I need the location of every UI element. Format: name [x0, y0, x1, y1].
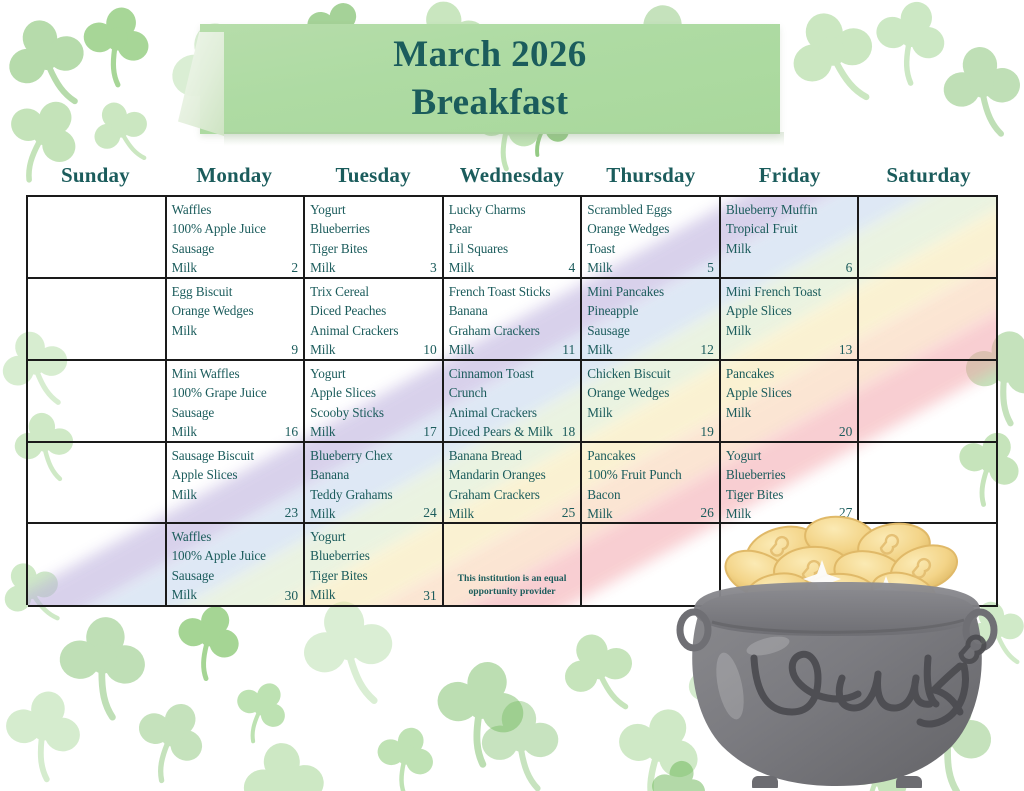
menu-items: YogurtBlueberriesTiger BitesMilk	[726, 446, 853, 524]
menu-item: Waffles	[172, 527, 299, 546]
day-cell-23: Sausage BiscuitApple SlicesMilk23	[167, 443, 306, 524]
menu-item: Yogurt	[310, 527, 437, 546]
day-number: 11	[562, 341, 575, 358]
menu-items: Scrambled EggsOrange WedgesToastMilk	[587, 200, 714, 278]
menu-items: YogurtBlueberriesTiger BitesMilk	[310, 200, 437, 278]
day-number: 23	[285, 504, 299, 521]
menu-item: Milk	[172, 258, 299, 277]
empty-cell-1-0	[28, 279, 167, 361]
menu-items: Trix CerealDiced PeachesAnimal CrackersM…	[310, 282, 437, 360]
menu-item: Blueberries	[726, 465, 853, 484]
menu-item: Milk	[449, 258, 576, 277]
day-number: 16	[285, 423, 299, 440]
calendar-page: March 2026 Breakfast SundayMondayTuesday…	[0, 0, 1024, 791]
day-number: 6	[846, 259, 853, 276]
shamrock-icon	[218, 670, 301, 755]
menu-item: Tiger Bites	[726, 485, 853, 504]
shamrock-icon	[161, 594, 254, 692]
day-number: 13	[839, 341, 853, 358]
menu-items: Blueberry ChexBananaTeddy GrahamsMilk	[310, 446, 437, 524]
menu-items: Mini French ToastApple SlicesMilk	[726, 282, 853, 340]
menu-item: Milk	[587, 504, 714, 523]
shamrock-icon	[935, 42, 1024, 147]
day-cell-25: Banana BreadMandarin OrangesGraham Crack…	[444, 443, 583, 524]
weekday-header-sunday: Sunday	[26, 160, 165, 190]
empty-cell-0-0	[28, 197, 167, 279]
menu-item: Diced Peaches	[310, 301, 437, 320]
day-cell-11: French Toast SticksBananaGraham Crackers…	[444, 279, 583, 361]
menu-item: Graham Crackers	[449, 321, 576, 340]
shamrock-icon	[0, 7, 105, 125]
day-cell-5: Scrambled EggsOrange WedgesToastMilk5	[582, 197, 721, 279]
day-number: 20	[839, 423, 853, 440]
menu-item: Sausage	[587, 321, 714, 340]
menu-item: Apple Slices	[172, 465, 299, 484]
shamrock-icon	[549, 621, 652, 730]
day-number: 24	[423, 504, 437, 521]
day-number: 18	[562, 423, 576, 440]
day-cell-31: YogurtBlueberriesTiger BitesMilk31	[305, 524, 444, 607]
menu-item: Milk	[172, 422, 299, 441]
menu-item: 100% Apple Juice	[172, 219, 299, 238]
day-cell-4: Lucky CharmsPearLil SquaresMilk4	[444, 197, 583, 279]
shamrock-icon	[475, 697, 568, 791]
shamrock-icon	[114, 687, 221, 791]
day-cell-16: Mini Waffles100% Grape JuiceSausageMilk1…	[167, 361, 306, 443]
menu-item: Milk	[726, 239, 853, 258]
cauldron-body	[692, 590, 982, 786]
day-number: 30	[285, 587, 299, 604]
menu-item: Yogurt	[310, 364, 437, 383]
day-number: 2	[291, 259, 298, 276]
menu-item: Banana	[449, 301, 576, 320]
shamrock-icon	[826, 733, 923, 791]
menu-item: Milk	[310, 258, 437, 277]
menu-item: Milk	[310, 504, 437, 523]
empty-cell-1-6	[859, 279, 998, 361]
menu-item: Yogurt	[726, 446, 853, 465]
weekday-header-saturday: Saturday	[859, 160, 998, 190]
weekday-header-monday: Monday	[165, 160, 304, 190]
menu-item: Tiger Bites	[310, 239, 437, 258]
day-number: 31	[423, 587, 437, 604]
day-number: 17	[423, 423, 437, 440]
menu-items: Mini Waffles100% Grape JuiceSausageMilk	[172, 364, 299, 442]
menu-item: Crunch	[449, 383, 576, 402]
day-cell-3: YogurtBlueberriesTiger BitesMilk3	[305, 197, 444, 279]
day-cell-24: Blueberry ChexBananaTeddy GrahamsMilk24	[305, 443, 444, 524]
menu-item: Orange Wedges	[172, 301, 299, 320]
menu-item: Sausage	[172, 403, 299, 422]
menu-items: Chicken BiscuitOrange WedgesMilk	[587, 364, 714, 422]
menu-item: Yogurt	[310, 200, 437, 219]
title-banner: March 2026 Breakfast	[200, 24, 780, 134]
menu-item: Sausage	[172, 566, 299, 585]
cauldron-handles	[680, 612, 994, 648]
empty-cell-2-6	[859, 361, 998, 443]
menu-item: Apple Slices	[726, 301, 853, 320]
menu-item: Graham Crackers	[449, 485, 576, 504]
menu-item: Tiger Bites	[310, 566, 437, 585]
shamrock-icon	[235, 738, 335, 791]
menu-item: Milk	[587, 403, 714, 422]
weekday-header-tuesday: Tuesday	[304, 160, 443, 190]
menu-items: Waffles100% Apple JuiceSausageMilk	[172, 527, 299, 605]
menu-item: Apple Slices	[310, 383, 437, 402]
menu-items: Sausage BiscuitApple SlicesMilk	[172, 446, 299, 504]
menu-item: Blueberries	[310, 546, 437, 565]
menu-item: Chicken Biscuit	[587, 364, 714, 383]
menu-items: Waffles100% Apple JuiceSausageMilk	[172, 200, 299, 278]
menu-item: French Toast Sticks	[449, 282, 576, 301]
menu-items: PancakesApple SlicesMilk	[726, 364, 853, 422]
menu-item: Milk	[726, 504, 853, 523]
shamrock-icon	[594, 693, 718, 791]
shamrock-icon	[893, 684, 1003, 791]
menu-items: Pancakes100% Fruit PunchBaconMilk	[587, 446, 714, 524]
day-number: 19	[700, 423, 714, 440]
menu-item: Waffles	[172, 200, 299, 219]
menu-item: Scrambled Eggs	[587, 200, 714, 219]
day-cell-27: YogurtBlueberriesTiger BitesMilk27	[721, 443, 860, 524]
menu-item: Toast	[587, 239, 714, 258]
menu-item: Pineapple	[587, 301, 714, 320]
day-cell-10: Trix CerealDiced PeachesAnimal CrackersM…	[305, 279, 444, 361]
empty-cell-4-6	[859, 524, 998, 607]
menu-items: Banana BreadMandarin OrangesGraham Crack…	[449, 446, 576, 524]
shamrock-icon	[643, 755, 714, 791]
empty-cell-4-4	[582, 524, 721, 607]
menu-item: 100% Grape Juice	[172, 383, 299, 402]
menu-item: Milk	[449, 340, 576, 359]
day-number: 26	[700, 504, 714, 521]
menu-item: Cinnamon Toast	[449, 364, 576, 383]
menu-item: Blueberry Chex	[310, 446, 437, 465]
pot-lucky-script	[754, 654, 965, 724]
empty-cell-4-5	[721, 524, 860, 607]
shamrock-icon	[774, 0, 898, 127]
shamrock-icon	[0, 682, 93, 791]
menu-item: Milk	[726, 321, 853, 340]
menu-item: Egg Biscuit	[172, 282, 299, 301]
equal-opportunity-disclaimer: This institution is an equal opportunity…	[448, 572, 577, 598]
day-cell-13: Mini French ToastApple SlicesMilk13	[721, 279, 860, 361]
menu-item: Milk	[587, 340, 714, 359]
menu-item: Sausage	[172, 239, 299, 258]
day-cell-30: Waffles100% Apple JuiceSausageMilk30	[167, 524, 306, 607]
meal-title: Breakfast	[411, 80, 568, 126]
day-number: 27	[839, 504, 853, 521]
menu-item: Trix Cereal	[310, 282, 437, 301]
shamrock-icon	[362, 718, 445, 791]
clover-icon	[961, 637, 984, 661]
day-cell-6: Blueberry MuffinTropical FruitMilk6	[721, 197, 860, 279]
day-cell-18: Cinnamon ToastCrunchAnimal CrackersDiced…	[444, 361, 583, 443]
shamrock-icon	[418, 650, 540, 780]
menu-item: Pancakes	[587, 446, 714, 465]
shamrock-icon	[291, 592, 409, 720]
shamrock-icon	[69, 0, 161, 97]
menu-item: Sausage Biscuit	[172, 446, 299, 465]
menu-item: Milk	[449, 504, 576, 523]
day-cell-17: YogurtApple SlicesScooby SticksMilk17	[305, 361, 444, 443]
month-year-title: March 2026	[393, 32, 586, 78]
menu-item: Milk	[310, 585, 437, 604]
menu-item: Mandarin Oranges	[449, 465, 576, 484]
menu-item: Teddy Grahams	[310, 485, 437, 504]
day-cell-26: Pancakes100% Fruit PunchBaconMilk26	[582, 443, 721, 524]
shamrock-icon	[746, 671, 828, 757]
banner-shadow	[224, 132, 784, 146]
menu-item: Mini French Toast	[726, 282, 853, 301]
menu-items: Blueberry MuffinTropical FruitMilk	[726, 200, 853, 258]
menu-item: Banana Bread	[449, 446, 576, 465]
menu-item: Milk	[172, 485, 299, 504]
menu-item: Tropical Fruit	[726, 219, 853, 238]
menu-item: Animal Crackers	[449, 403, 576, 422]
menu-item: Animal Crackers	[310, 321, 437, 340]
menu-item: Orange Wedges	[587, 219, 714, 238]
day-number: 12	[700, 341, 714, 358]
day-number: 25	[562, 504, 576, 521]
menu-item: Scooby Sticks	[310, 403, 437, 422]
menu-items: YogurtBlueberriesTiger BitesMilk	[310, 527, 437, 605]
day-cell-20: PancakesApple SlicesMilk20	[721, 361, 860, 443]
shamrock-icon	[677, 638, 769, 736]
menu-item: 100% Apple Juice	[172, 546, 299, 565]
menu-item: Mini Waffles	[172, 364, 299, 383]
day-number: 10	[423, 341, 437, 358]
menu-item: Orange Wedges	[587, 383, 714, 402]
weekday-header-friday: Friday	[720, 160, 859, 190]
menu-items: YogurtApple SlicesScooby SticksMilk	[310, 364, 437, 442]
calendar-grid: Waffles100% Apple JuiceSausageMilk2Yogur…	[26, 195, 998, 605]
menu-item: Apple Slices	[726, 383, 853, 402]
day-number: 9	[291, 341, 298, 358]
menu-item: Bacon	[587, 485, 714, 504]
menu-item: Milk	[310, 422, 437, 441]
day-cell-12: Mini PancakesPineappleSausageMilk12	[582, 279, 721, 361]
menu-item: 100% Fruit Punch	[587, 465, 714, 484]
menu-item: Milk	[587, 258, 714, 277]
menu-item: Mini Pancakes	[587, 282, 714, 301]
weekday-header-thursday: Thursday	[581, 160, 720, 190]
menu-item: Pear	[449, 219, 576, 238]
day-number: 3	[430, 259, 437, 276]
menu-item: Blueberry Muffin	[726, 200, 853, 219]
empty-cell-3-6	[859, 443, 998, 524]
day-number: 5	[707, 259, 714, 276]
day-cell-9: Egg BiscuitOrange WedgesMilk9	[167, 279, 306, 361]
menu-item: Milk	[172, 585, 299, 604]
menu-item: Lil Squares	[449, 239, 576, 258]
menu-items: French Toast SticksBananaGraham Crackers…	[449, 282, 576, 360]
menu-item: Banana	[310, 465, 437, 484]
menu-item: Milk	[726, 403, 853, 422]
day-number: 4	[569, 259, 576, 276]
menu-item: Blueberries	[310, 219, 437, 238]
menu-item: Milk	[172, 321, 299, 340]
empty-cell-0-6	[859, 197, 998, 279]
weekday-header-wednesday: Wednesday	[443, 160, 582, 190]
menu-item: Lucky Charms	[449, 200, 576, 219]
menu-item: Diced Pears & Milk	[449, 422, 576, 441]
empty-cell-4-0	[28, 524, 167, 607]
weekday-header-row: SundayMondayTuesdayWednesdayThursdayFrid…	[26, 160, 998, 190]
day-cell-19: Chicken BiscuitOrange WedgesMilk19	[582, 361, 721, 443]
day-cell-2: Waffles100% Apple JuiceSausageMilk2	[167, 197, 306, 279]
empty-cell-3-0	[28, 443, 167, 524]
menu-item: Pancakes	[726, 364, 853, 383]
menu-items: Cinnamon ToastCrunchAnimal CrackersDiced…	[449, 364, 576, 442]
menu-item: Milk	[310, 340, 437, 359]
shamrock-icon	[859, 0, 958, 96]
shamrock-icon	[49, 611, 156, 728]
cauldron-feet	[752, 776, 922, 788]
menu-items: Egg BiscuitOrange WedgesMilk	[172, 282, 299, 340]
menu-items: Mini PancakesPineappleSausageMilk	[587, 282, 714, 360]
empty-cell-2-0	[28, 361, 167, 443]
menu-items: Lucky CharmsPearLil SquaresMilk	[449, 200, 576, 278]
empty-cell-4-3: This institution is an equal opportunity…	[444, 524, 583, 607]
